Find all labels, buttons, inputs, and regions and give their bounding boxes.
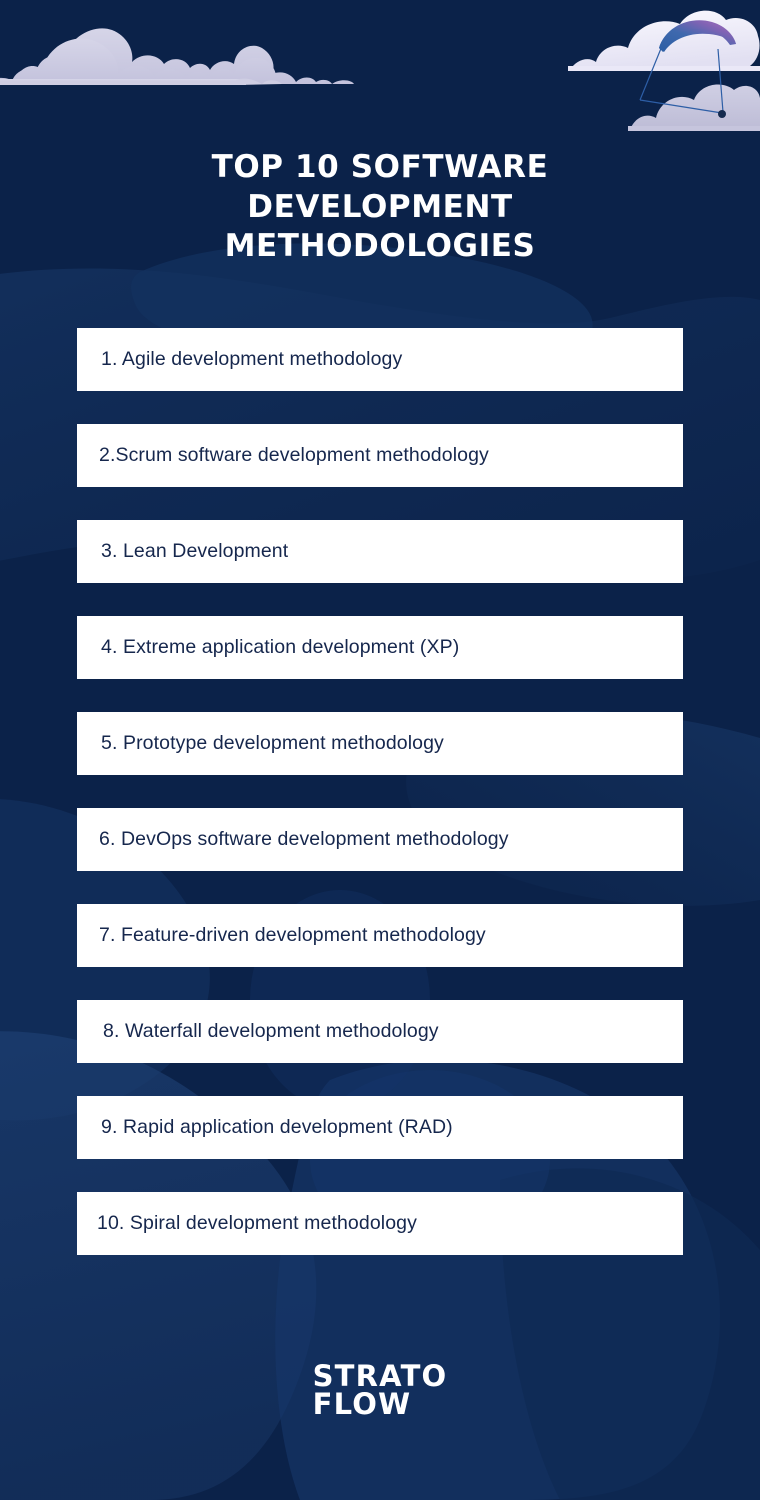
list-item[interactable]: 7. Feature-driven development methodolog… — [77, 904, 683, 967]
methodology-list: 1. Agile development methodology 2.Scrum… — [77, 328, 683, 1288]
brand-logo: STRATO FLOW — [0, 1362, 760, 1418]
list-item-label: 4. Extreme application development (XP) — [77, 636, 459, 659]
list-item-label: 6. DevOps software development methodolo… — [77, 828, 509, 851]
list-item[interactable]: 8. Waterfall development methodology — [77, 1000, 683, 1063]
list-item-label: 7. Feature-driven development methodolog… — [77, 924, 486, 947]
infographic-poster: TOP 10 SOFTWARE DEVELOPMENT METHODOLOGIE… — [0, 0, 760, 1500]
cloud-left-icon — [0, 28, 354, 85]
list-item-label: 2.Scrum software development methodology — [77, 444, 489, 467]
list-item[interactable]: 9. Rapid application development (RAD) — [77, 1096, 683, 1159]
list-item[interactable]: 6. DevOps software development methodolo… — [77, 808, 683, 871]
brand-logo-line-2: FLOW — [313, 1390, 448, 1418]
list-item-label: 5. Prototype development methodology — [77, 732, 444, 755]
list-item[interactable]: 1. Agile development methodology — [77, 328, 683, 391]
list-item-label: 10. Spiral development methodology — [77, 1212, 417, 1235]
page-title-wrapper: TOP 10 SOFTWARE DEVELOPMENT METHODOLOGIE… — [0, 148, 760, 267]
cloud-right-bottom-icon — [628, 85, 760, 131]
list-item[interactable]: 2.Scrum software development methodology — [77, 424, 683, 487]
list-item[interactable]: 10. Spiral development methodology — [77, 1192, 683, 1255]
list-item-label: 9. Rapid application development (RAD) — [77, 1116, 453, 1139]
list-item[interactable]: 4. Extreme application development (XP) — [77, 616, 683, 679]
brand-logo-line-1: STRATO — [313, 1362, 448, 1390]
list-item-label: 3. Lean Development — [77, 540, 288, 563]
list-item-label: 8. Waterfall development methodology — [77, 1020, 439, 1043]
list-item[interactable]: 3. Lean Development — [77, 520, 683, 583]
sky-illustration — [0, 0, 760, 160]
list-item[interactable]: 5. Prototype development methodology — [77, 712, 683, 775]
list-item-label: 1. Agile development methodology — [77, 348, 402, 371]
page-title: TOP 10 SOFTWARE DEVELOPMENT METHODOLOGIE… — [70, 148, 690, 267]
